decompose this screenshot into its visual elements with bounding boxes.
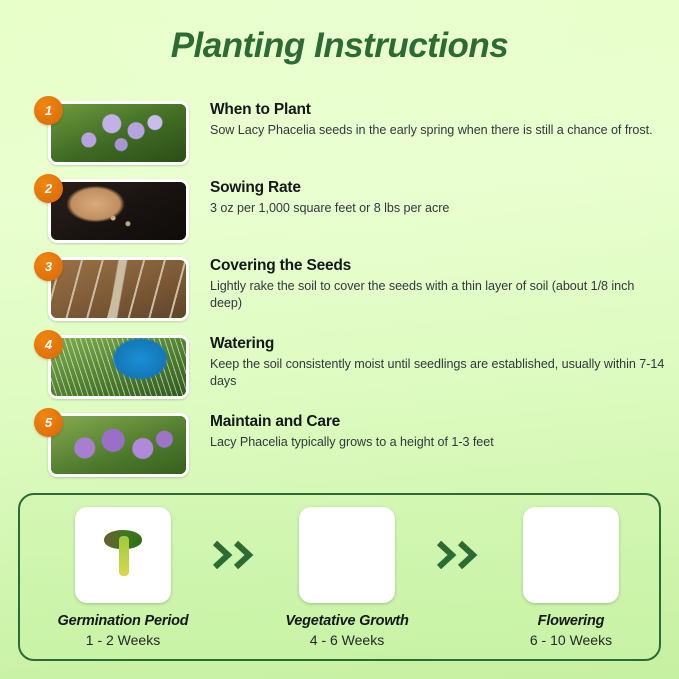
list-item: 2 Sowing Rate 3 oz per 1,000 square feet…	[0, 174, 679, 252]
timeline-stage-flowering: Flowering 6 - 10 Weeks	[482, 507, 660, 648]
list-item: 3 Covering the Seeds Lightly rake the so…	[0, 252, 679, 330]
blue-watering-can-spout-photo	[51, 338, 186, 396]
double-chevron-right-icon	[436, 540, 482, 570]
stage-duration: 4 - 6 Weeks	[258, 632, 436, 648]
step-thumbnail	[48, 335, 189, 399]
step-number-badge: 1	[34, 96, 63, 125]
page-title: Planting Instructions	[0, 24, 679, 68]
stage-name: Germination Period	[34, 613, 212, 629]
growth-timeline-panel: Germination Period 1 - 2 Weeks Vegetativ…	[18, 493, 661, 661]
stage-duration: 6 - 10 Weeks	[482, 632, 660, 648]
step-number-badge: 4	[34, 330, 63, 359]
step-thumbnail	[48, 179, 189, 243]
stage-name: Flowering	[482, 613, 660, 629]
timeline-stage-germination: Germination Period 1 - 2 Weeks	[34, 507, 212, 648]
step-text: When to Plant Sow Lacy Phacelia seeds in…	[210, 100, 667, 139]
step-body: Lacy Phacelia typically grows to a heigh…	[210, 434, 667, 451]
step-thumbnail	[48, 101, 189, 165]
stage-thumbnail	[75, 507, 171, 603]
step-heading: Maintain and Care	[210, 412, 667, 431]
stage-thumbnail	[299, 507, 395, 603]
step-heading: When to Plant	[210, 100, 667, 119]
timeline-flow: Germination Period 1 - 2 Weeks Vegetativ…	[20, 495, 659, 659]
stage-duration: 1 - 2 Weeks	[34, 632, 212, 648]
step-thumbnail	[48, 413, 189, 477]
list-item: 5 Maintain and Care Lacy Phacelia typica…	[0, 408, 679, 486]
hand-sowing-seeds-in-soil-photo	[51, 182, 186, 240]
step-heading: Watering	[210, 334, 667, 353]
step-body: Sow Lacy Phacelia seeds in the early spr…	[210, 122, 667, 139]
purple-phacelia-flowers-photo	[51, 104, 186, 162]
step-number-badge: 5	[34, 408, 63, 437]
list-item: 4 Watering Keep the soil consistently mo…	[0, 330, 679, 408]
step-text: Sowing Rate 3 oz per 1,000 square feet o…	[210, 178, 667, 217]
step-text: Maintain and Care Lacy Phacelia typicall…	[210, 412, 667, 451]
stage-thumbnail	[523, 507, 619, 603]
step-thumbnail	[48, 257, 189, 321]
step-text: Watering Keep the soil consistently mois…	[210, 334, 667, 389]
list-item: 1 When to Plant Sow Lacy Phacelia seeds …	[0, 96, 679, 174]
step-heading: Covering the Seeds	[210, 256, 667, 275]
timeline-arrow	[212, 507, 258, 603]
phacelia-blooms-closeup-photo	[51, 416, 186, 474]
step-body: Keep the soil consistently moist until s…	[210, 356, 667, 389]
stage-name: Vegetative Growth	[258, 613, 436, 629]
step-number-badge: 3	[34, 252, 63, 281]
step-body: Lightly rake the soil to cover the seeds…	[210, 278, 667, 311]
rake-on-soil-photo	[51, 260, 186, 318]
timeline-arrow	[436, 507, 482, 603]
double-chevron-right-icon	[212, 540, 258, 570]
step-text: Covering the Seeds Lightly rake the soil…	[210, 256, 667, 311]
step-number-badge: 2	[34, 174, 63, 203]
timeline-stage-vegetative: Vegetative Growth 4 - 6 Weeks	[258, 507, 436, 648]
step-heading: Sowing Rate	[210, 178, 667, 197]
infographic-page: Planting Instructions 1 When to Plant So…	[0, 0, 679, 679]
steps-list: 1 When to Plant Sow Lacy Phacelia seeds …	[0, 96, 679, 486]
step-body: 3 oz per 1,000 square feet or 8 lbs per …	[210, 200, 667, 217]
